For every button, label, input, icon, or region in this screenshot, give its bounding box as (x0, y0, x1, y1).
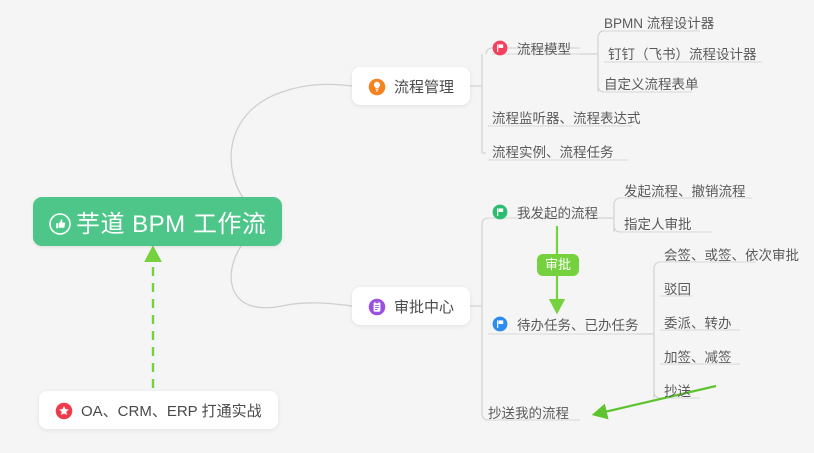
leaf-label-my-initiated: 我发起的流程 (517, 202, 598, 222)
thumbs-up-icon (49, 213, 66, 230)
leaf-label-countersign: 会签、或签、依次审批 (664, 244, 799, 264)
approval-flow-badge-label: 审批 (545, 257, 571, 272)
leaf-label-listener-expression: 流程监听器、流程表达式 (492, 107, 641, 127)
leaf-cc-to-me[interactable]: 抄送我的流程 (488, 402, 569, 428)
leaf-label-cc-to-me: 抄送我的流程 (488, 402, 569, 422)
flag-icon (492, 40, 509, 57)
leaf-delegate-transfer[interactable]: 委派、转办 (664, 312, 732, 338)
leaf-reject[interactable]: 驳回 (664, 278, 691, 304)
leaf-assignee-approval[interactable]: 指定人审批 (624, 213, 692, 239)
leaf-label-start-cancel-process: 发起流程、撤销流程 (624, 180, 746, 200)
flag-icon (492, 204, 509, 221)
leaf-add-remove-sign[interactable]: 加签、减签 (664, 346, 732, 372)
leaf-process-model[interactable]: 流程模型 (492, 38, 571, 64)
root-node[interactable]: 芋道 BPM 工作流 (33, 197, 282, 246)
leaf-todo-done-tasks[interactable]: 待办任务、已办任务 (492, 314, 639, 340)
leaf-label-custom-form: 自定义流程表单 (604, 73, 699, 93)
branch-node-process-management[interactable]: 流程管理 (352, 67, 470, 105)
leaf-label-todo-done-tasks: 待办任务、已办任务 (517, 314, 639, 334)
leaf-label-reject: 驳回 (664, 278, 691, 298)
clipboard-icon (368, 298, 385, 315)
leaf-label-cc: 抄送 (664, 380, 691, 400)
leaf-start-cancel-process[interactable]: 发起流程、撤销流程 (624, 180, 746, 206)
leaf-label-process-model: 流程模型 (517, 38, 571, 58)
root-label: 芋道 BPM 工作流 (76, 204, 266, 239)
lightbulb-icon (368, 78, 385, 95)
bottom-node-integration[interactable]: OA、CRM、ERP 打通实战 (39, 391, 278, 429)
approval-flow-badge: 审批 (537, 254, 579, 276)
leaf-my-initiated[interactable]: 我发起的流程 (492, 202, 598, 228)
flag-icon (492, 316, 509, 333)
leaf-label-delegate-transfer: 委派、转办 (664, 312, 732, 332)
mindmap-canvas: 芋道 BPM 工作流 流程管理 审批中心 (0, 0, 814, 453)
leaf-listener-expression[interactable]: 流程监听器、流程表达式 (492, 107, 641, 133)
branch-node-approval-center[interactable]: 审批中心 (352, 287, 470, 325)
leaf-label-add-remove-sign: 加签、减签 (664, 346, 732, 366)
leaf-bpmn-designer[interactable]: BPMN 流程设计器 (604, 12, 714, 38)
leaf-label-assignee-approval: 指定人审批 (624, 213, 692, 233)
leaf-cc[interactable]: 抄送 (664, 380, 691, 406)
leaf-countersign[interactable]: 会签、或签、依次审批 (664, 244, 799, 270)
leaf-custom-form[interactable]: 自定义流程表单 (604, 73, 699, 99)
leaf-dingtalk-feishu-designer[interactable]: 钉钉（飞书）流程设计器 (608, 43, 757, 69)
bottom-node-label: OA、CRM、ERP 打通实战 (81, 400, 262, 421)
leaf-label-dingtalk-feishu-designer: 钉钉（飞书）流程设计器 (608, 43, 757, 63)
branch-label-process-management: 流程管理 (394, 76, 454, 97)
leaf-instance-task[interactable]: 流程实例、流程任务 (492, 141, 614, 167)
star-icon (55, 402, 72, 419)
branch-label-approval-center: 审批中心 (394, 296, 454, 317)
leaf-label-bpmn-designer: BPMN 流程设计器 (604, 12, 714, 32)
leaf-label-instance-task: 流程实例、流程任务 (492, 141, 614, 161)
